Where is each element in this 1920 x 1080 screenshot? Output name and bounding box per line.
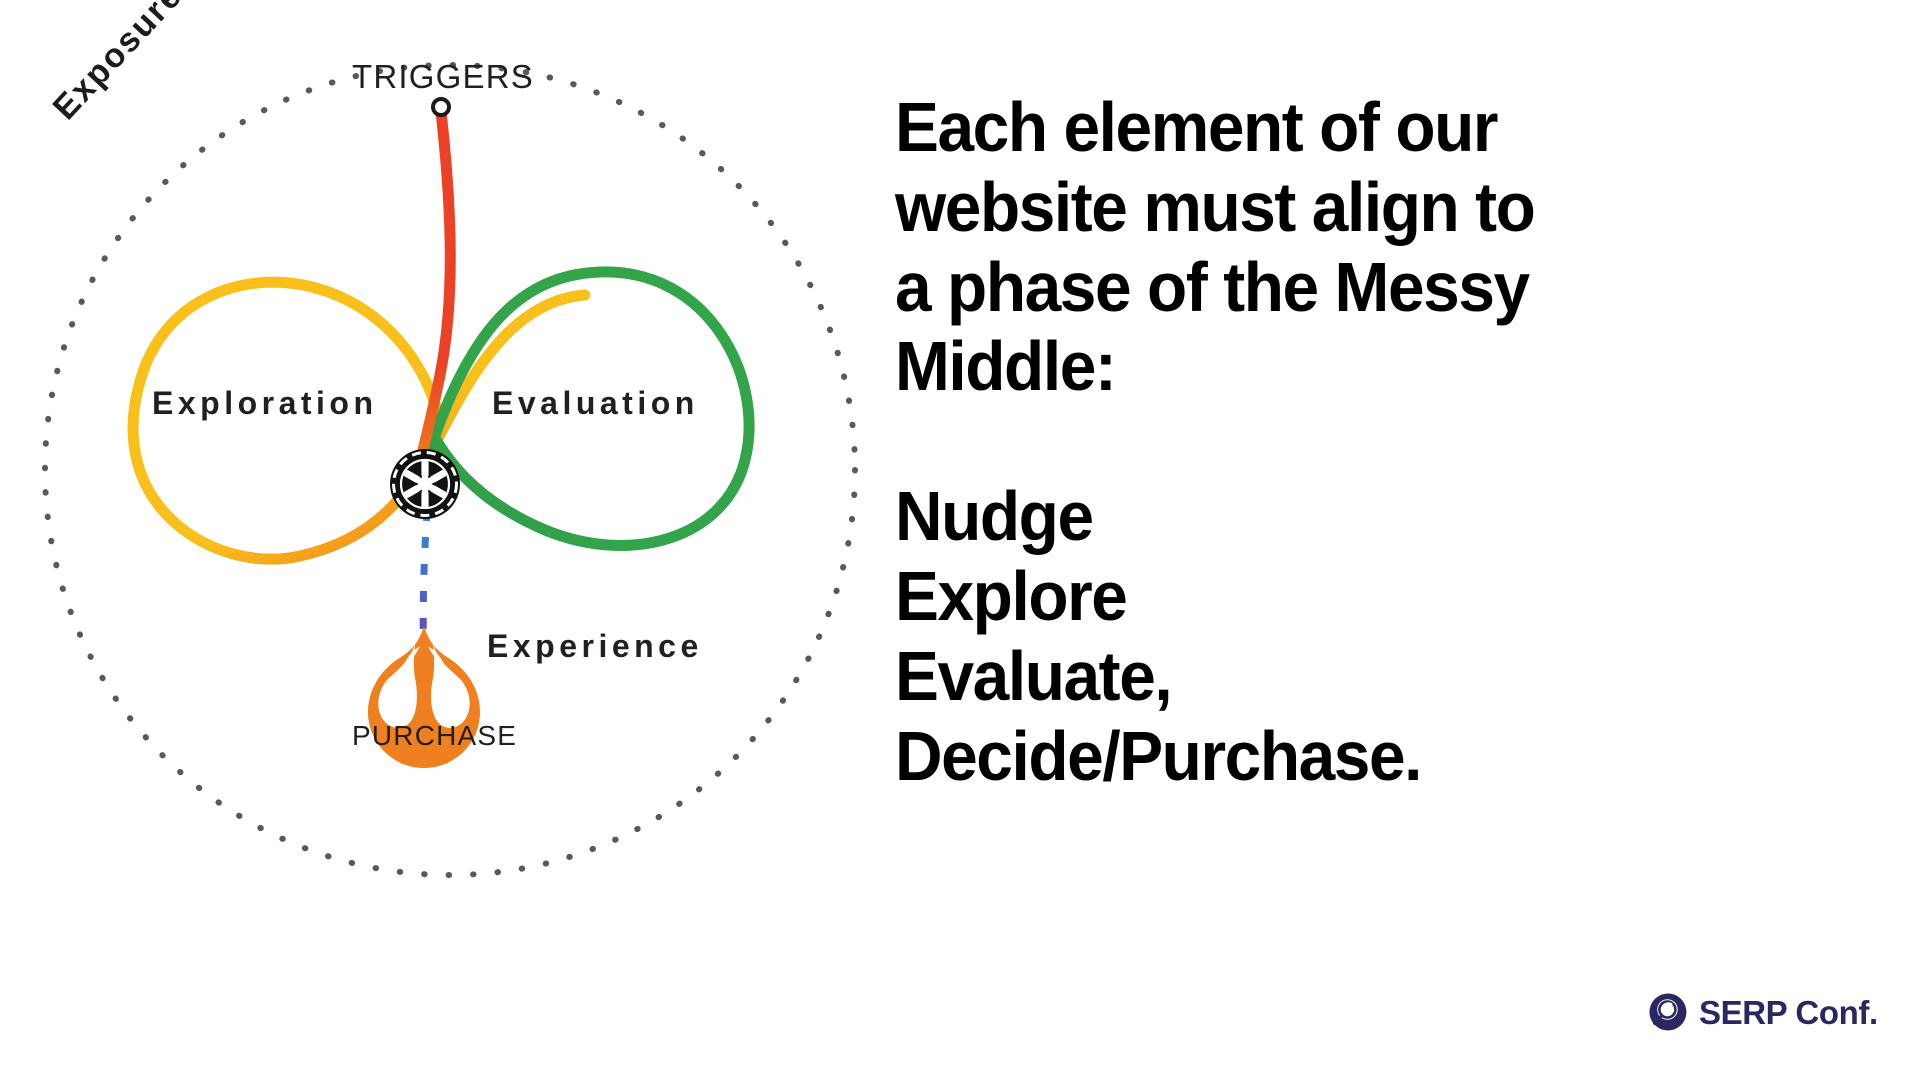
serp-conf-logo: SERP Conf. bbox=[1648, 992, 1878, 1032]
serp-conf-logo-text: SERP Conf. bbox=[1699, 996, 1878, 1029]
triggers-label: TRIGGERS bbox=[352, 58, 534, 96]
phase-item-evaluate: Evaluate, bbox=[895, 637, 1553, 717]
experience-label: Experience bbox=[487, 628, 703, 665]
slide-canvas: Exposure TRIGGERS Exploration Evaluation… bbox=[0, 0, 1920, 1080]
messy-middle-diagram: Exposure TRIGGERS Exploration Evaluation… bbox=[0, 0, 880, 1080]
headline: Each element of our website must align t… bbox=[895, 88, 1553, 407]
copy-block: Each element of our website must align t… bbox=[895, 88, 1595, 796]
galactic-empire-icon bbox=[390, 449, 460, 519]
phase-list: Nudge Explore Evaluate, Decide/Purchase. bbox=[895, 477, 1553, 796]
phase-item-decide-purchase: Decide/Purchase. bbox=[895, 717, 1553, 797]
exploration-label: Exploration bbox=[152, 385, 378, 422]
purchase-label: PURCHASE bbox=[352, 720, 517, 752]
trigger-start-dot-icon bbox=[433, 99, 449, 115]
diagram-svg bbox=[0, 0, 880, 1080]
phase-item-nudge: Nudge bbox=[895, 477, 1553, 557]
phase-item-explore: Explore bbox=[895, 557, 1553, 637]
magnifier-logo-icon bbox=[1648, 992, 1688, 1032]
evaluation-label: Evaluation bbox=[492, 385, 699, 422]
